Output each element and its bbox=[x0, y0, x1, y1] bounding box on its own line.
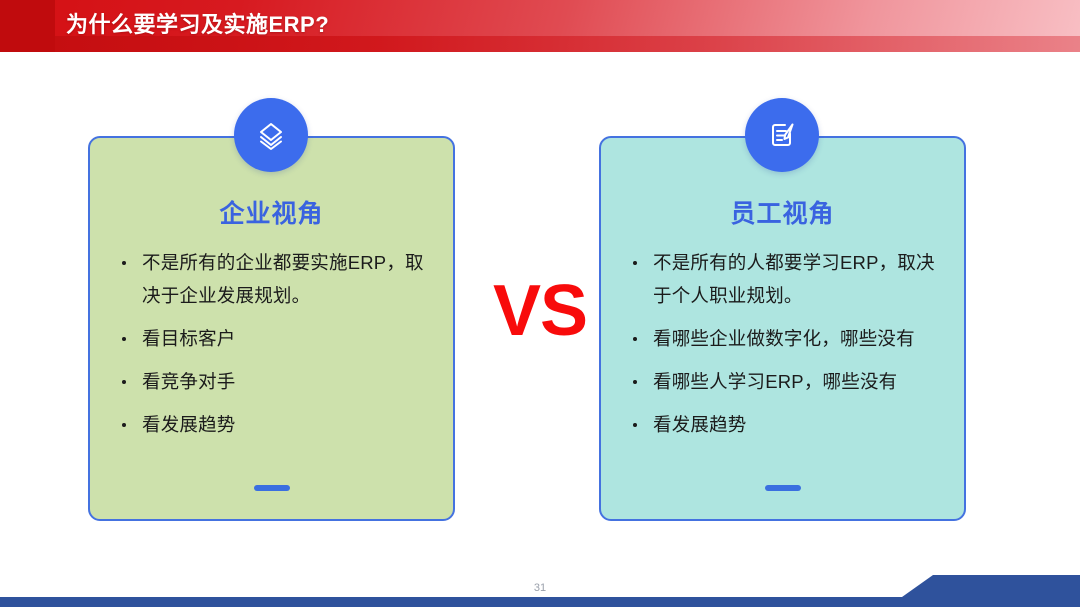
list-item: 不是所有的人都要学习ERP，取决于个人职业规划。 bbox=[623, 246, 950, 312]
layers-icon-badge[interactable] bbox=[234, 98, 308, 172]
bullet-list-right: 不是所有的人都要学习ERP，取决于个人职业规划。 看哪些企业做数字化，哪些没有 … bbox=[623, 246, 950, 451]
document-edit-icon bbox=[764, 117, 800, 153]
title-accent-block bbox=[0, 0, 55, 52]
background-watermark bbox=[18, 56, 218, 92]
page-title: 为什么要学习及实施ERP? bbox=[66, 0, 329, 52]
card-title-left: 企业视角 bbox=[90, 194, 453, 230]
card-title-right: 员工视角 bbox=[601, 194, 964, 230]
list-item: 看哪些企业做数字化，哪些没有 bbox=[623, 322, 950, 355]
list-item: 看发展趋势 bbox=[623, 408, 950, 441]
card-bottom-dash-right bbox=[765, 485, 801, 491]
layers-icon bbox=[253, 117, 289, 153]
footer-bar bbox=[0, 597, 1080, 607]
card-bottom-dash-left bbox=[254, 485, 290, 491]
list-item: 看发展趋势 bbox=[112, 408, 439, 441]
slide-canvas: 为什么要学习及实施ERP? 企业视角 不是所有的企业都要实施ERP，取决于企业发… bbox=[0, 0, 1080, 607]
list-item: 看哪些人学习ERP，哪些没有 bbox=[623, 365, 950, 398]
list-item: 看竞争对手 bbox=[112, 365, 439, 398]
card-employee-perspective[interactable]: 员工视角 不是所有的人都要学习ERP，取决于个人职业规划。 看哪些企业做数字化，… bbox=[599, 136, 966, 521]
document-edit-icon-badge[interactable] bbox=[745, 98, 819, 172]
